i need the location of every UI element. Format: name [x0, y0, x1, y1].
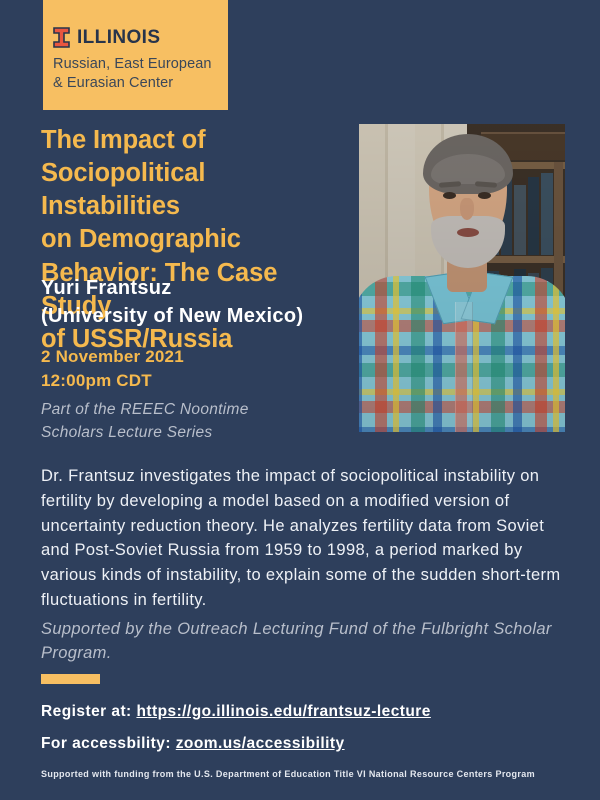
person-hair [423, 134, 513, 194]
illinois-wordmark-text: ILLINOIS [77, 28, 160, 47]
abstract-text: Dr. Frantsuz investigates the impact of … [41, 464, 563, 613]
series-line-2: Scholars Lecture Series [41, 422, 351, 445]
event-datetime: 2 November 2021 12:00pm CDT [41, 345, 351, 393]
accessibility-link[interactable]: zoom.us/accessibility [176, 735, 345, 752]
unit-name: Russian, East European & Eurasian Center [53, 55, 228, 92]
lecture-flyer: ILLINOIS Russian, East European & Eurasi… [0, 0, 600, 800]
unit-name-line-1: Russian, East European [53, 55, 228, 74]
shirt-placket [455, 302, 473, 432]
illinois-wordmark: ILLINOIS [53, 26, 228, 48]
speaker-affiliation: (University of New Mexico) [41, 303, 351, 331]
accessibility-line: For accessbility: zoom.us/accessibility [41, 735, 345, 753]
accessibility-label: For accessbility: [41, 735, 176, 752]
series-line-1: Part of the REEEC Noontime [41, 399, 351, 422]
event-time: 12:00pm CDT [41, 369, 351, 393]
speaker-photo-content [359, 124, 565, 432]
photo-person [359, 124, 565, 432]
title-line-1: The Impact of [41, 124, 349, 157]
accent-divider [41, 674, 100, 684]
person-nose [460, 198, 474, 220]
speaker-name: Yuri Frantsuz [41, 275, 351, 303]
unit-name-line-2: & Eurasian Center [53, 74, 228, 93]
speaker-photo [359, 124, 565, 432]
person-beard [431, 216, 505, 268]
person-mouth [457, 228, 479, 237]
title-line-3: on Demographic [41, 223, 349, 256]
funding-footer: Supported with funding from the U.S. Dep… [41, 769, 571, 779]
event-date: 2 November 2021 [41, 345, 351, 369]
title-line-2: Sociopolitical Instabilities [41, 157, 349, 223]
speaker-block: Yuri Frantsuz (University of New Mexico) [41, 275, 351, 330]
illinois-logo-block: ILLINOIS Russian, East European & Eurasi… [43, 0, 228, 110]
block-i-icon [53, 27, 70, 48]
register-line: Register at: https://go.illinois.edu/fra… [41, 703, 431, 721]
lecture-series: Part of the REEEC Noontime Scholars Lect… [41, 399, 351, 444]
support-note: Supported by the Outreach Lecturing Fund… [41, 617, 563, 666]
register-label: Register at: [41, 703, 136, 720]
register-link[interactable]: https://go.illinois.edu/frantsuz-lecture [136, 703, 430, 720]
person-eye-right [478, 192, 491, 199]
person-eye-left [443, 192, 456, 199]
